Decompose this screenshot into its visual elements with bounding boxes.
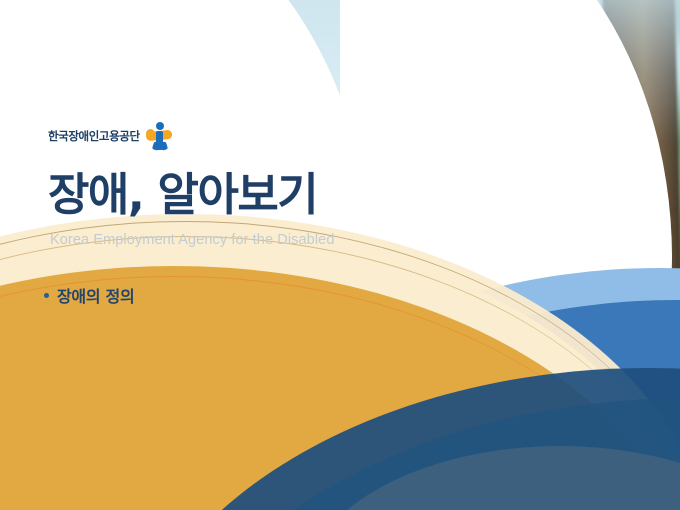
page-subtitle: Korea Employment Agency for the Disabled (50, 232, 334, 248)
organization-logo-label: 한국장애인고용공단 (48, 128, 140, 144)
slide-content: 한국장애인고용공단 장애, 알아보기 Korea Employment Agen… (0, 0, 420, 510)
bullet-label: 장애의 정의 (57, 283, 134, 307)
organization-logo[interactable]: 한국장애인고용공단 (48, 122, 172, 150)
page-title: 장애, 알아보기 (48, 172, 317, 217)
presentation-slide: 한국장애인고용공단 장애, 알아보기 Korea Employment Agen… (0, 0, 680, 510)
bullet-dot-icon (44, 293, 49, 298)
list-item: 장애의 정의 (44, 283, 134, 307)
person-with-open-arms-icon (146, 122, 172, 150)
